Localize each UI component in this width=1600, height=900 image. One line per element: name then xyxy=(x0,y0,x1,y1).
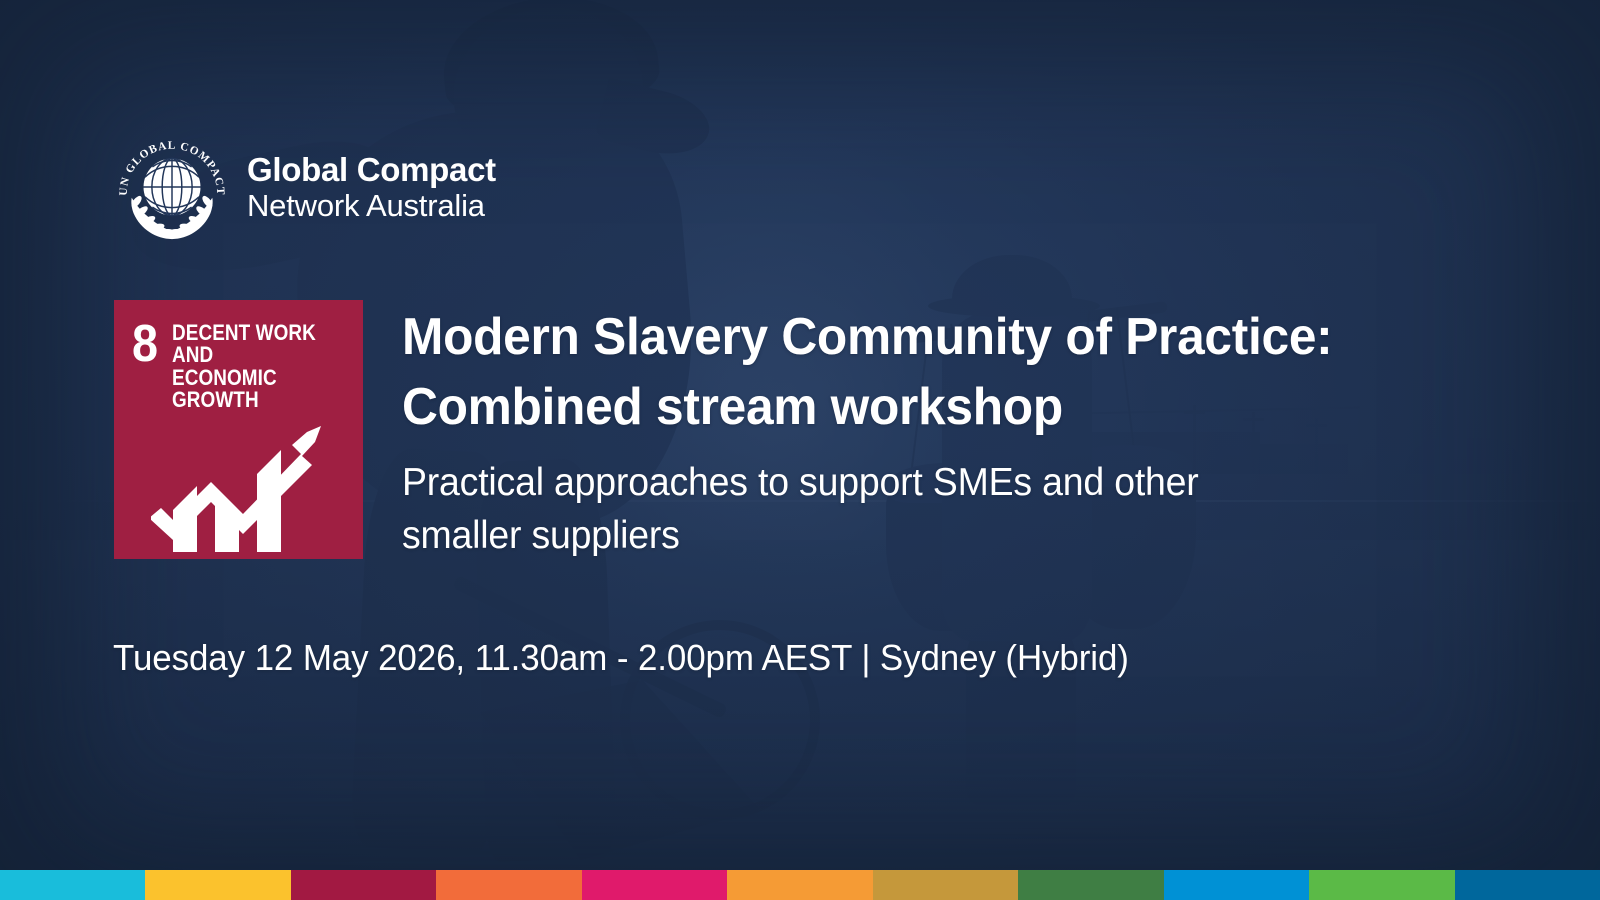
sdg-color-segment-9 xyxy=(1164,870,1309,900)
sdg-color-segment-10 xyxy=(1309,870,1454,900)
headline-block: Modern Slavery Community of Practice: Co… xyxy=(402,303,1467,562)
sdg-color-segment-2 xyxy=(145,870,290,900)
sdg-color-segment-7 xyxy=(873,870,1018,900)
event-banner: UN GLOBAL COMPACT xyxy=(0,0,1600,900)
banner-content: UN GLOBAL COMPACT xyxy=(0,0,1600,900)
sdg-color-segment-11 xyxy=(1455,870,1600,900)
sdg-color-segment-1 xyxy=(0,870,145,900)
event-details-line: Tuesday 12 May 2026, 11.30am - 2.00pm AE… xyxy=(113,637,1129,679)
sdg-color-strip xyxy=(0,870,1600,900)
page-title: Modern Slavery Community of Practice: Co… xyxy=(402,303,1419,443)
logo-line-1: Global Compact xyxy=(247,153,496,187)
sdg-tile-header: 8 DECENT WORK AND ECONOMIC GROWTH xyxy=(132,322,349,412)
sdg-color-segment-5 xyxy=(582,870,727,900)
un-global-compact-emblem-icon: UN GLOBAL COMPACT xyxy=(113,131,231,243)
sdg-color-segment-4 xyxy=(436,870,581,900)
sdg-color-segment-8 xyxy=(1018,870,1163,900)
growth-chart-arrow-icon xyxy=(151,424,331,552)
sdg-8-tile: 8 DECENT WORK AND ECONOMIC GROWTH xyxy=(114,300,363,559)
ungc-logo-wordmark: Global Compact Network Australia xyxy=(247,153,496,221)
page-subtitle: Practical approaches to support SMEs and… xyxy=(402,457,1424,562)
sdg-color-segment-6 xyxy=(727,870,872,900)
sdg-number: 8 xyxy=(132,322,158,368)
sdg-title: DECENT WORK AND ECONOMIC GROWTH xyxy=(172,322,324,412)
ungc-logo-lockup: UN GLOBAL COMPACT xyxy=(113,131,496,243)
logo-line-2: Network Australia xyxy=(247,190,496,222)
sdg-color-segment-3 xyxy=(291,870,436,900)
